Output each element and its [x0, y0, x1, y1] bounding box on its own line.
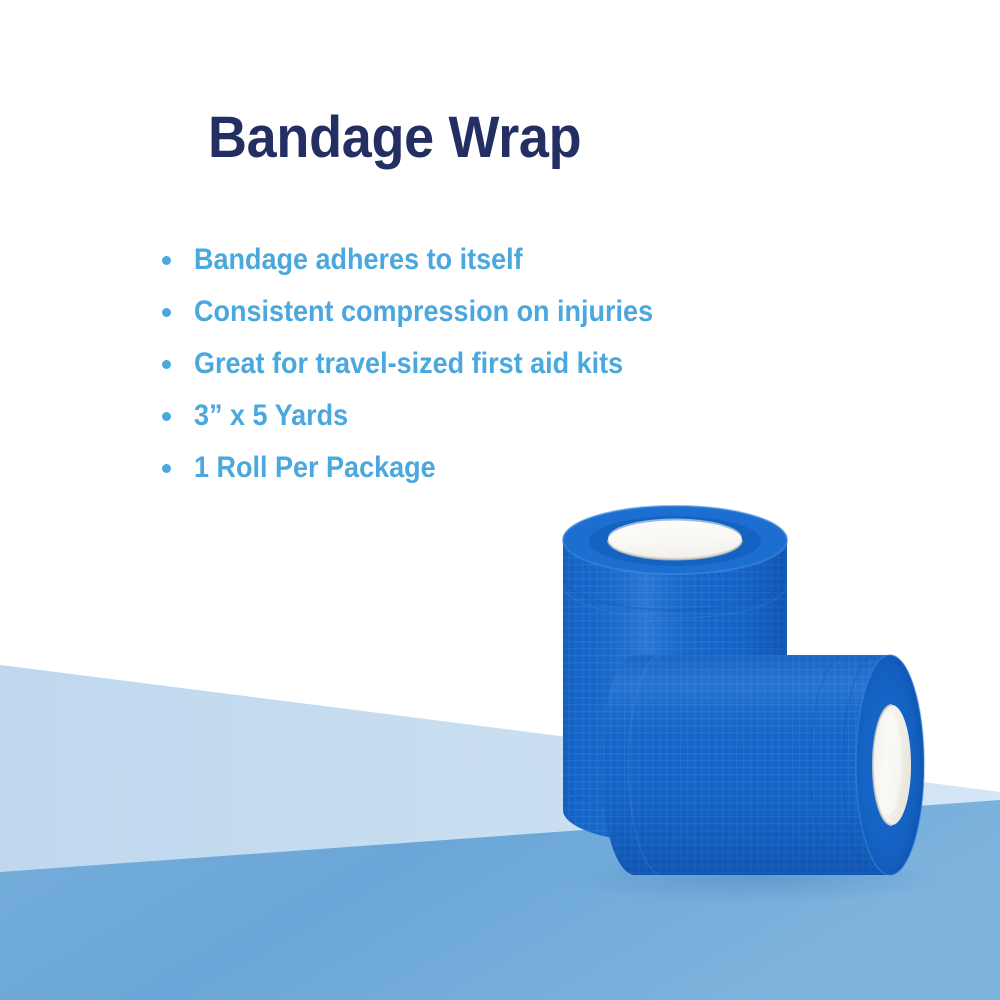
bullet-dot-icon	[162, 464, 171, 473]
bullet-dot-icon	[162, 412, 171, 421]
feature-list: Bandage adheres to itself Consistent com…	[158, 234, 778, 494]
lying-bandage-roll	[595, 640, 935, 890]
product-photo	[540, 480, 1000, 910]
list-item: 3” x 5 Yards	[158, 390, 778, 442]
page-title: Bandage Wrap	[208, 104, 581, 171]
feature-label: 3” x 5 Yards	[194, 401, 348, 431]
product-feature-image: Bandage Wrap Bandage adheres to itself C…	[0, 0, 1000, 1000]
list-item: Great for travel-sized first aid kits	[158, 338, 778, 390]
feature-label: 1 Roll Per Package	[194, 453, 436, 483]
list-item: Consistent compression on injuries	[158, 286, 778, 338]
list-item: Bandage adheres to itself	[158, 234, 778, 286]
bullet-dot-icon	[162, 256, 171, 265]
feature-label: Great for travel-sized first aid kits	[194, 349, 623, 379]
bullet-dot-icon	[162, 308, 171, 317]
feature-label: Bandage adheres to itself	[194, 245, 523, 275]
feature-label: Consistent compression on injuries	[194, 297, 653, 327]
bullet-dot-icon	[162, 360, 171, 369]
